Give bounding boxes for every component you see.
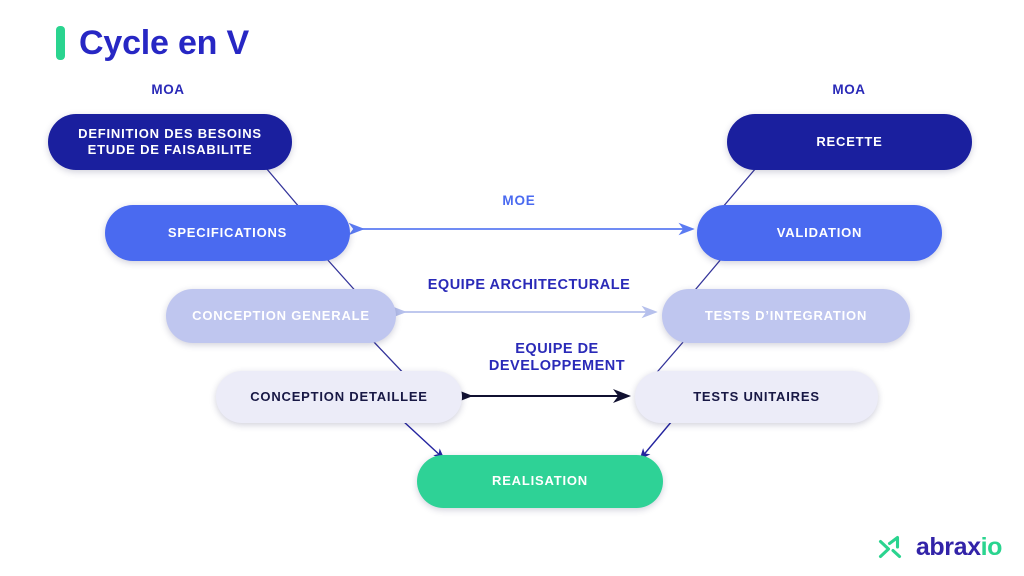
arrow-unitaires-realisation [641, 421, 672, 458]
span-label-equipe-architecturale: EQUIPE ARCHITECTURALE [428, 277, 631, 294]
phase-label-conception-generale: CONCEPTION GENERALE [182, 308, 380, 324]
span-label-moe: MOE [502, 193, 535, 209]
span-label-equipe-de-developpement: EQUIPE DE DEVELOPPEMENT [489, 341, 625, 374]
arrow-detaillee-realisation [403, 421, 443, 458]
realisation-inbound-arrows [403, 421, 672, 458]
abraxio-logo: abraxio [878, 534, 1002, 560]
logo-word-secondary: io [981, 533, 1002, 561]
phase-pill-definition-des-besoins[interactable]: DEFINITION DES BESOINS ETUDE DE FAISABIL… [48, 114, 292, 170]
phase-pill-validation[interactable]: VALIDATION [697, 205, 942, 261]
phase-pill-tests-integration[interactable]: TESTS D’INTEGRATION [662, 289, 910, 343]
page-title-text: Cycle en V [79, 26, 249, 60]
phase-label-definition-des-besoins: DEFINITION DES BESOINS ETUDE DE FAISABIL… [64, 126, 276, 159]
phase-pill-conception-generale[interactable]: CONCEPTION GENERALE [166, 289, 396, 343]
link-definition-specifications [266, 168, 300, 208]
phase-label-realisation: REALISATION [433, 473, 647, 489]
abraxio-wordmark: abraxio [916, 535, 1002, 560]
logo-word-primary: abrax [916, 533, 981, 561]
phase-label-conception-detaillee: CONCEPTION DETAILLEE [232, 389, 446, 405]
phase-pill-recette[interactable]: RECETTE [727, 114, 972, 170]
role-label-moa-left: MOA [151, 82, 184, 97]
phase-pill-tests-unitaires[interactable]: TESTS UNITAIRES [635, 371, 878, 423]
role-label-moa-right: MOA [832, 82, 865, 97]
phase-pill-conception-detaillee[interactable]: CONCEPTION DETAILLEE [216, 371, 462, 423]
title-accent-bar [56, 26, 65, 60]
phase-label-specifications: SPECIFICATIONS [121, 225, 334, 241]
phase-label-tests-integration: TESTS D’INTEGRATION [678, 308, 894, 324]
phase-label-tests-unitaires: TESTS UNITAIRES [651, 389, 862, 405]
link-recette-validation [722, 168, 756, 208]
abraxio-mark-icon [878, 534, 908, 560]
phase-label-validation: VALIDATION [713, 225, 926, 241]
phase-pill-realisation[interactable]: REALISATION [417, 455, 663, 508]
v-model-diagram-canvas: Cycle en V [0, 0, 1024, 576]
phase-label-recette: RECETTE [743, 134, 956, 150]
page-title: Cycle en V [56, 26, 249, 60]
phase-pill-specifications[interactable]: SPECIFICATIONS [105, 205, 350, 261]
